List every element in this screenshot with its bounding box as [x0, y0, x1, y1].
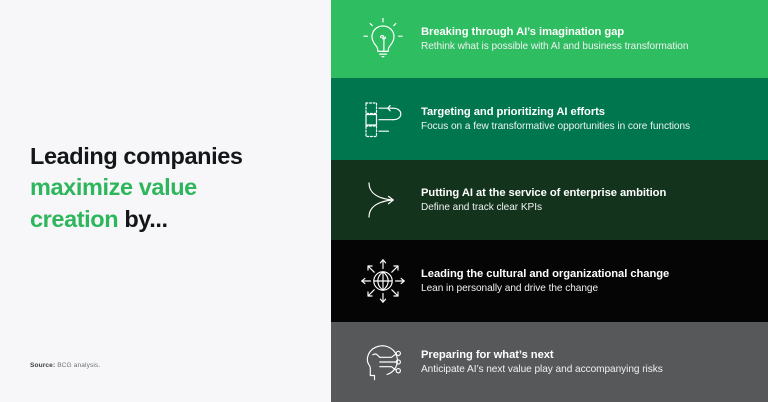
page-title-line-2: maximize value: [30, 174, 197, 200]
step-text: Leading the cultural and organizational …: [419, 267, 768, 296]
step-headline: Putting AI at the service of enterprise …: [421, 186, 758, 200]
step-text: Targeting and prioritizing AI efforts Fo…: [419, 105, 768, 134]
step-row[interactable]: Putting AI at the service of enterprise …: [331, 160, 768, 240]
ai-head-circuit-icon: [347, 331, 419, 393]
step-headline: Targeting and prioritizing AI efforts: [421, 105, 758, 119]
page-title: Leading companies maximize value creatio…: [30, 141, 310, 235]
step-subline: Rethink what is possible with AI and bus…: [421, 41, 758, 54]
page-title-line-3-plain: by...: [118, 206, 167, 232]
step-subline: Anticipate AI’s next value play and acco…: [421, 364, 758, 377]
slide-canvas: Leading companies maximize value creatio…: [0, 0, 768, 402]
step-row[interactable]: Breaking through AI’s imagination gap Re…: [331, 0, 768, 78]
step-headline: Breaking through AI’s imagination gap: [421, 25, 758, 39]
page-title-line-3-accent: creation: [30, 206, 118, 232]
left-panel: Leading companies maximize value creatio…: [0, 0, 331, 402]
step-headline: Leading the cultural and organizational …: [421, 267, 758, 281]
step-subline: Lean in personally and drive the change: [421, 283, 758, 296]
converging-arrows-icon: [347, 169, 419, 231]
step-subline: Define and track clear KPIs: [421, 202, 758, 215]
source-value: BCG analysis.: [57, 362, 100, 369]
step-row[interactable]: Preparing for what’s next Anticipate AI’…: [331, 322, 768, 402]
page-title-line-1: Leading companies: [30, 143, 243, 169]
step-headline: Preparing for what’s next: [421, 348, 758, 362]
lightbulb-icon: [347, 8, 419, 70]
step-subline: Focus on a few transformative opportunit…: [421, 121, 758, 134]
steps-panel: Breaking through AI’s imagination gap Re…: [331, 0, 768, 402]
step-text: Preparing for what’s next Anticipate AI’…: [419, 348, 768, 377]
step-text: Breaking through AI’s imagination gap Re…: [419, 25, 768, 54]
prioritization-squares-loop-icon: [347, 88, 419, 150]
step-row[interactable]: Leading the cultural and organizational …: [331, 240, 768, 322]
source-label: Source:: [30, 362, 55, 369]
step-text: Putting AI at the service of enterprise …: [419, 186, 768, 215]
step-row[interactable]: Targeting and prioritizing AI efforts Fo…: [331, 78, 768, 160]
source-note: Source: BCG analysis.: [30, 362, 100, 369]
globe-radiating-arrows-icon: [347, 250, 419, 312]
